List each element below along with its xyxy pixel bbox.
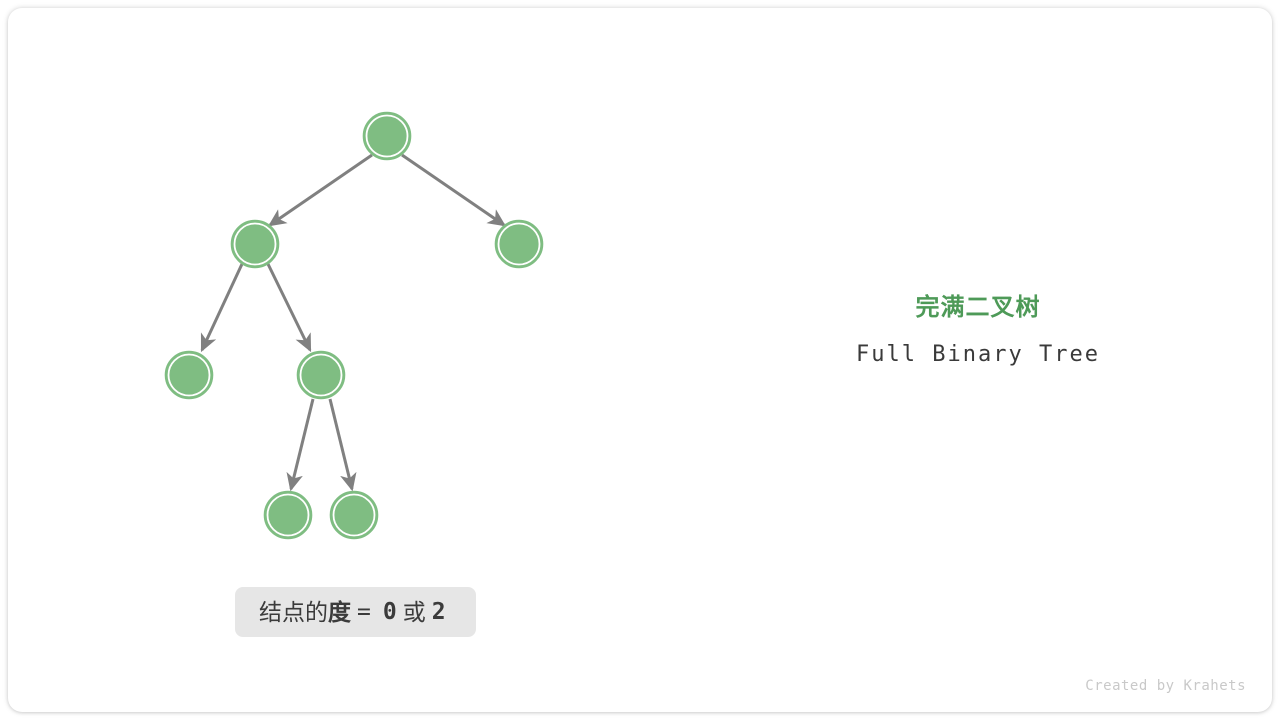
diagram-title-en: Full Binary Tree xyxy=(788,341,1168,369)
tree-node-left[interactable] xyxy=(232,221,279,268)
degree-label-two: 2 xyxy=(426,598,452,626)
edge-root-to-right xyxy=(402,155,504,225)
edge-left-to-leftright xyxy=(268,264,310,350)
edge-root-to-left xyxy=(270,155,372,225)
credit-text: Created by Krahets xyxy=(1085,678,1246,694)
edge-left-to-leftleft xyxy=(202,264,242,350)
degree-label-equals: = xyxy=(351,598,377,626)
tree-node-root[interactable] xyxy=(364,113,411,160)
degree-label-degree: 度 xyxy=(328,598,351,626)
edge-mid-to-leafright xyxy=(330,399,352,489)
tree-node-leaf-left[interactable] xyxy=(265,492,312,539)
edge-mid-to-leafleft xyxy=(291,399,313,489)
diagram-card: 完满二叉树 Full Binary Tree 结点的度=0或2 Created … xyxy=(8,8,1272,712)
tree-edges xyxy=(202,155,504,489)
tree-node-left-right[interactable] xyxy=(298,352,345,399)
diagram-title-cn: 完满二叉树 xyxy=(788,293,1168,323)
degree-label-prefix: 结点的 xyxy=(259,598,328,626)
tree-nodes xyxy=(166,113,543,539)
degree-label-badge: 结点的度=0或2 xyxy=(235,587,476,637)
degree-label-zero: 0 xyxy=(377,598,403,626)
tree-node-leaf-right[interactable] xyxy=(331,492,378,539)
legend-block: 完满二叉树 Full Binary Tree xyxy=(788,293,1168,369)
tree-node-left-left[interactable] xyxy=(166,352,213,399)
tree-node-right[interactable] xyxy=(496,221,543,268)
degree-label-or: 或 xyxy=(403,598,426,626)
